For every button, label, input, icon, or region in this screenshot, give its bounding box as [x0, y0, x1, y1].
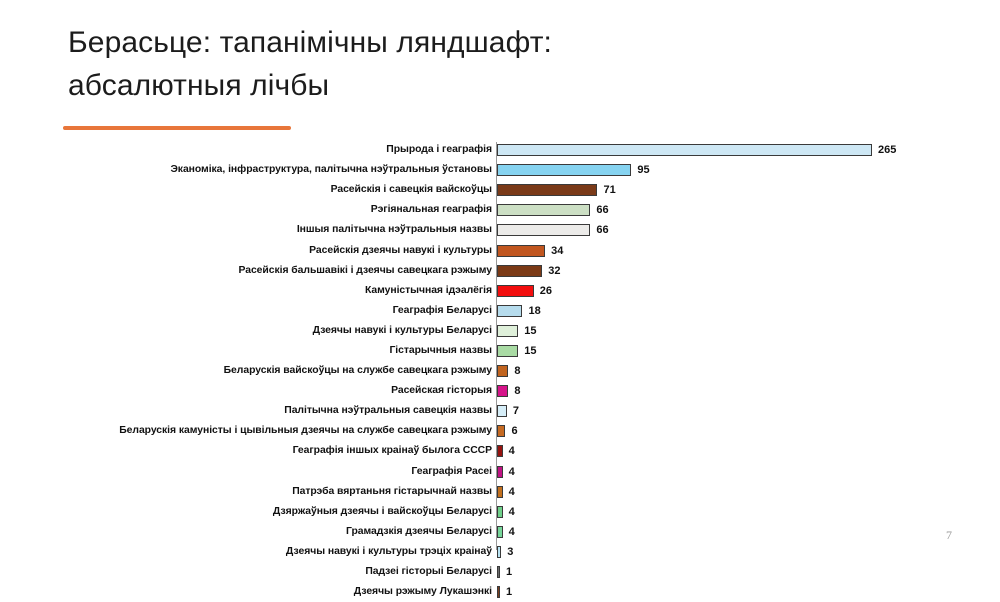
bar-row: Грамадзкія дзеячы Беларусі4	[0, 522, 1000, 542]
bar-category-label: Рэгіянальная геаграфія	[62, 204, 492, 216]
bar-segment	[497, 506, 503, 518]
bar-and-value: 1	[497, 582, 512, 602]
bar-category-label: Беларускія камуністы і цывільныя дзеячы …	[62, 425, 492, 437]
bar-row: Расейскія дзеячы навукі і культуры34	[0, 240, 1000, 260]
bar-category-label: Грамадзкія дзеячы Беларусі	[62, 526, 492, 538]
bar-category-label: Геаграфія Расеі	[62, 466, 492, 478]
bar-row: Дзяржаўныя дзеячы і вайскоўцы Беларусі4	[0, 502, 1000, 522]
bar-row: Прырода і геаграфія265	[0, 140, 1000, 160]
bar-value-label: 66	[596, 224, 608, 236]
bar-segment	[497, 486, 503, 498]
bar-row: Эканоміка, інфраструктура, палітычна нэў…	[0, 160, 1000, 180]
bar-segment	[497, 224, 590, 236]
bar-category-label: Геаграфія Беларусі	[62, 305, 492, 317]
bar-and-value: 66	[497, 220, 609, 240]
bar-and-value: 95	[497, 160, 650, 180]
bar-category-label: Дзеячы навукі і культуры Беларусі	[62, 325, 492, 337]
bar-and-value: 6	[497, 421, 518, 441]
bar-category-label: Расейскія бальшавікі і дзеячы савецкага …	[62, 265, 492, 277]
bar-segment	[497, 425, 505, 437]
bar-row: Рэгіянальная геаграфія66	[0, 200, 1000, 220]
bar-value-label: 18	[528, 305, 540, 317]
bar-segment	[497, 385, 508, 397]
bar-row: Расейскія бальшавікі і дзеячы савецкага …	[0, 261, 1000, 281]
bar-segment	[497, 345, 518, 357]
bar-segment	[497, 365, 508, 377]
bar-segment	[497, 445, 503, 457]
bar-category-label: Беларускія вайскоўцы на службе савецкага…	[62, 365, 492, 377]
bar-value-label: 26	[540, 285, 552, 297]
bar-value-label: 3	[507, 546, 513, 558]
bar-row: Палітычна нэўтральныя савецкія назвы7	[0, 401, 1000, 421]
bar-segment	[497, 586, 500, 598]
bar-category-label: Расейская гісторыя	[62, 385, 492, 397]
bar-row: Падзеі гісторыі Беларусі1	[0, 562, 1000, 582]
bar-value-label: 1	[506, 586, 512, 598]
bar-value-label: 8	[514, 365, 520, 377]
bar-row: Камуністычная ідэалёгія26	[0, 281, 1000, 301]
bar-value-label: 15	[524, 345, 536, 357]
bar-and-value: 7	[497, 401, 519, 421]
bar-segment	[497, 144, 872, 156]
bar-value-label: 7	[513, 405, 519, 417]
slide-page-number: 7	[946, 528, 952, 543]
bar-and-value: 8	[497, 381, 520, 401]
bar-value-label: 71	[603, 184, 615, 196]
bar-value-label: 4	[509, 526, 515, 538]
bar-segment	[497, 204, 590, 216]
bar-row: Расейская гісторыя8	[0, 381, 1000, 401]
bar-category-label: Прырода і геаграфія	[62, 144, 492, 156]
bar-chart: Прырода і геаграфія265Эканоміка, інфраст…	[0, 140, 1000, 555]
bar-row: Геаграфія Беларусі18	[0, 301, 1000, 321]
bar-segment	[497, 526, 503, 538]
bar-value-label: 1	[506, 566, 512, 578]
bar-segment	[497, 405, 507, 417]
bar-category-label: Патрэба вяртаньня гістарычнай назвы	[62, 486, 492, 498]
bar-and-value: 4	[497, 522, 515, 542]
page-title: Берасьце: тапанімічны ляндшафт: абсалютн…	[68, 22, 828, 107]
bar-and-value: 4	[497, 441, 515, 461]
bar-segment	[497, 164, 631, 176]
bar-segment	[497, 566, 500, 578]
bar-and-value: 4	[497, 462, 515, 482]
bar-segment	[497, 265, 542, 277]
bar-value-label: 95	[637, 164, 649, 176]
bar-segment	[497, 245, 545, 257]
bar-category-label: Іншыя палітычна нэўтральныя назвы	[62, 224, 492, 236]
bar-value-label: 66	[596, 204, 608, 216]
bar-category-label: Расейскія дзеячы навукі і культуры	[62, 245, 492, 257]
bar-row: Іншыя палітычна нэўтральныя назвы66	[0, 220, 1000, 240]
bar-and-value: 8	[497, 361, 520, 381]
bar-row: Беларускія камуністы і цывільныя дзеячы …	[0, 421, 1000, 441]
bar-segment	[497, 184, 597, 196]
bar-and-value: 4	[497, 482, 515, 502]
bar-and-value: 34	[497, 240, 563, 260]
bar-category-label: Камуністычная ідэалёгія	[62, 285, 492, 297]
bar-category-label: Гістарычныя назвы	[62, 345, 492, 357]
bar-segment	[497, 305, 522, 317]
bar-segment	[497, 285, 534, 297]
bar-row: Геаграфія іншых краінаў былога СССР4	[0, 441, 1000, 461]
bar-category-label: Дзеячы навукі і культуры трэціх краінаў	[62, 546, 492, 558]
bar-and-value: 265	[497, 140, 896, 160]
bar-value-label: 4	[509, 445, 515, 457]
bar-row: Дзеячы навукі і культуры Беларусі15	[0, 321, 1000, 341]
bar-row: Патрэба вяртаньня гістарычнай назвы4	[0, 482, 1000, 502]
bar-category-label: Геаграфія іншых краінаў былога СССР	[62, 445, 492, 457]
bar-row: Геаграфія Расеі4	[0, 462, 1000, 482]
bar-category-label: Расейскія і савецкія вайскоўцы	[62, 184, 492, 196]
bar-value-label: 4	[509, 506, 515, 518]
bar-segment	[497, 546, 501, 558]
bar-row: Расейскія і савецкія вайскоўцы71	[0, 180, 1000, 200]
bar-row: Дзеячы навукі і культуры трэціх краінаў3	[0, 542, 1000, 562]
bar-category-label: Эканоміка, інфраструктура, палітычна нэў…	[62, 164, 492, 176]
bar-category-label: Падзеі гісторыі Беларусі	[62, 566, 492, 578]
bar-and-value: 18	[497, 301, 541, 321]
bar-segment	[497, 325, 518, 337]
bar-and-value: 4	[497, 502, 515, 522]
title-underline-rule	[63, 126, 291, 130]
bar-row: Гістарычныя назвы15	[0, 341, 1000, 361]
bar-and-value: 71	[497, 180, 616, 200]
bar-value-label: 6	[511, 425, 517, 437]
bar-value-label: 34	[551, 245, 563, 257]
bar-row: Дзеячы рэжыму Лукашэнкі1	[0, 582, 1000, 602]
bar-rows-container: Прырода і геаграфія265Эканоміка, інфраст…	[0, 140, 1000, 602]
bar-value-label: 265	[878, 144, 896, 156]
bar-and-value: 66	[497, 200, 609, 220]
bar-category-label: Дзеячы рэжыму Лукашэнкі	[62, 586, 492, 598]
bar-and-value: 32	[497, 261, 561, 281]
bar-category-label: Палітычна нэўтральныя савецкія назвы	[62, 405, 492, 417]
bar-and-value: 26	[497, 281, 552, 301]
bar-value-label: 15	[524, 325, 536, 337]
bar-and-value: 15	[497, 341, 536, 361]
bar-and-value: 3	[497, 542, 513, 562]
bar-row: Беларускія вайскоўцы на службе савецкага…	[0, 361, 1000, 381]
bar-value-label: 8	[514, 385, 520, 397]
bar-and-value: 1	[497, 562, 512, 582]
bar-category-label: Дзяржаўныя дзеячы і вайскоўцы Беларусі	[62, 506, 492, 518]
bar-value-label: 4	[509, 466, 515, 478]
bar-and-value: 15	[497, 321, 536, 341]
bar-value-label: 4	[509, 486, 515, 498]
bar-value-label: 32	[548, 265, 560, 277]
bar-segment	[497, 466, 503, 478]
